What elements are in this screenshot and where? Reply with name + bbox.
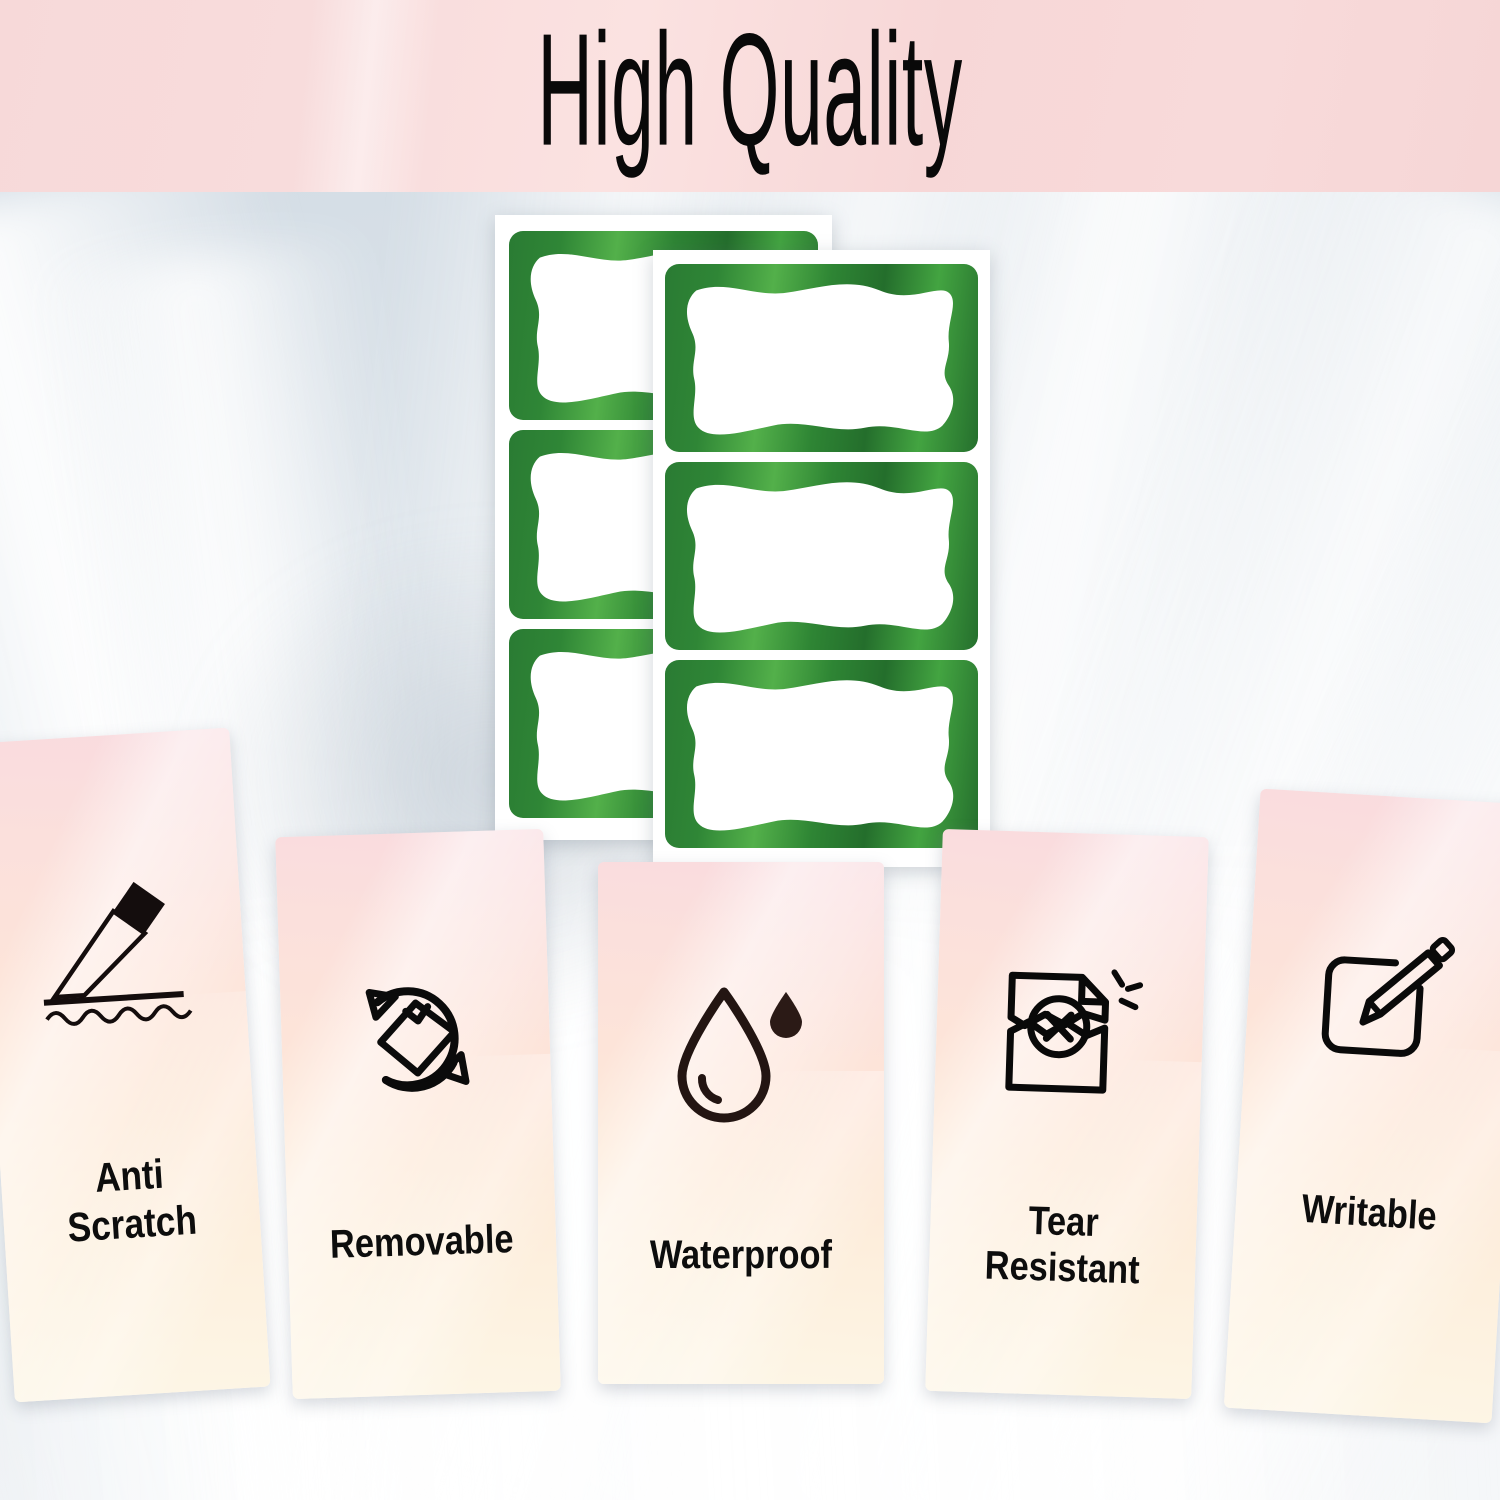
blade-scratch-surface-icon [30,870,199,1030]
feature-card-writable[interactable]: Writable [1224,789,1500,1424]
page-title: High Quality [537,11,962,182]
feature-label: Anti Scratch [63,1149,198,1252]
feature-label: Tear Resistant [984,1197,1142,1295]
feature-card-anti-scratch[interactable]: Anti Scratch [0,728,270,1403]
water-droplet-icon [666,978,816,1128]
pencil-square-edit-icon [1303,920,1462,1079]
feature-cards: Anti Scratch Removable [0,0,1500,1500]
feature-label: Waterproof [650,1232,832,1278]
feature-card-tear-resistant[interactable]: Tear Resistant [925,829,1209,1399]
feature-label: Writable [1301,1186,1439,1240]
circular-arrows-label-icon [338,959,493,1114]
feature-card-waterproof[interactable]: Waterproof [598,862,884,1384]
product-feature-graphic: High Quality [0,0,1500,1500]
feature-card-removable[interactable]: Removable [275,829,561,1399]
feature-label: Removable [330,1216,515,1268]
torn-document-x-icon [992,959,1147,1114]
